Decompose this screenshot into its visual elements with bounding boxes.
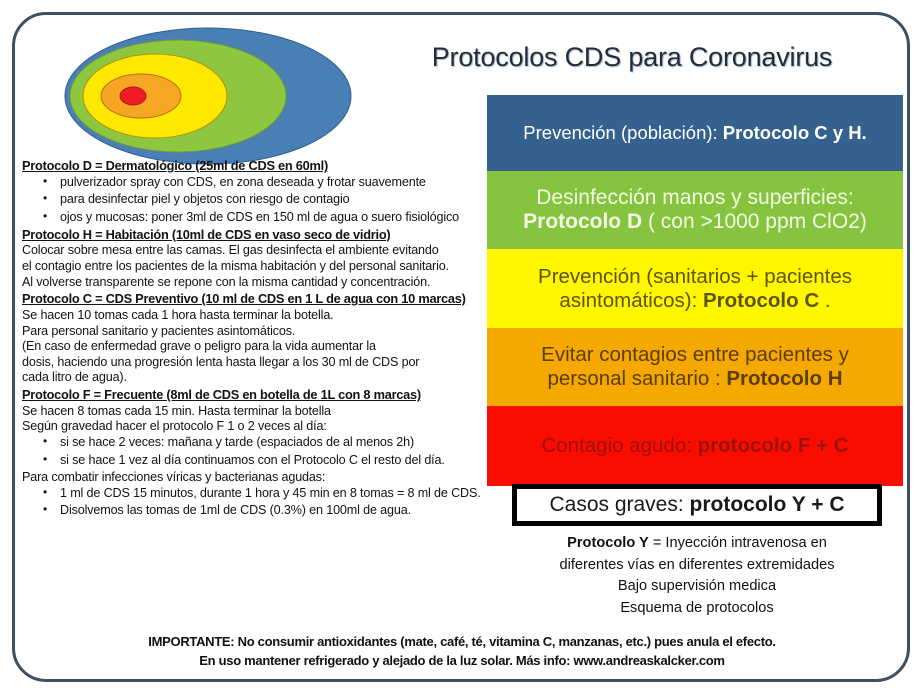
- band-bold-text: Protocolo C y H.: [723, 122, 867, 143]
- band-bold-text: Protocolo D: [523, 210, 642, 233]
- band-bold-text: protocolo F + C: [698, 434, 849, 457]
- casos-graves-callout-box: Casos graves: protocolo Y + C: [512, 484, 882, 526]
- protocolo-y-line-1: Protocolo Y = Inyección intravenosa en: [492, 533, 902, 555]
- protocol-c-heading: Protocolo C = CDS Preventivo (10 ml de C…: [22, 293, 484, 306]
- protocolo-y-label: Protocolo Y: [567, 535, 649, 551]
- band-prevencion-sanitarios: Prevención (sanitarios + pacientes asint…: [487, 249, 903, 328]
- footer-line-2: En uso mantener refrigerado y alejado de…: [22, 652, 902, 671]
- band-evitar-contagios: Evitar contagios entre pacientes y perso…: [487, 328, 903, 406]
- infecciones-agudas-line: Para combatir infecciones víricas y bact…: [22, 471, 484, 484]
- band-prefix-text: Prevención (población):: [523, 122, 723, 143]
- protocol-h-line: Al volverse transparente se repone con l…: [22, 276, 484, 289]
- protocolo-y-line-2: diferentes vías en diferentes extremidad…: [492, 555, 902, 577]
- list-item: si se hace 2 veces: mañana y tarde (espa…: [60, 436, 484, 449]
- page-title: Protocolos CDS para Coronavirus: [362, 42, 902, 73]
- protocol-severity-bands: Prevención (población): Protocolo C y H.…: [487, 95, 903, 486]
- protocol-f-line: Se hacen 8 tomas cada 15 min. Hasta term…: [22, 405, 484, 418]
- band-desinfeccion: Desinfección manos y superficies: Protoc…: [487, 171, 903, 249]
- protocol-f-heading: Protocolo F = Frecuente (8ml de CDS en b…: [22, 389, 484, 402]
- band-bold-text: Protocolo C: [703, 289, 819, 312]
- band-suffix-text: ( con >1000 ppm ClO2): [642, 210, 867, 233]
- protocol-h-heading: Protocolo H = Habitación (10ml de CDS en…: [22, 229, 484, 242]
- red-core-icon: [120, 87, 146, 105]
- protocol-d-heading: Protocolo D = Dermatológico (25ml de CDS…: [22, 160, 484, 173]
- band-bold-text: Protocolo H: [726, 367, 842, 390]
- list-item: 1 ml de CDS 15 minutos, durante 1 hora y…: [60, 487, 484, 500]
- casos-graves-prefix: Casos graves:: [549, 493, 689, 516]
- band-suffix-text: .: [819, 289, 830, 312]
- footer-line-1: IMPORTANTE: No consumir antioxidantes (m…: [22, 633, 902, 652]
- list-item: Disolvemos las tomas de 1ml de CDS (0.3%…: [60, 504, 484, 517]
- protocol-f-bullet-list: si se hace 2 veces: mañana y tarde (espa…: [22, 436, 484, 466]
- protocol-c-line: dosis, haciendo una progresión lenta has…: [22, 356, 484, 369]
- protocol-h-line: el contagio entre los pacientes de la mi…: [22, 260, 484, 273]
- footer-warning: IMPORTANTE: No consumir antioxidantes (m…: [22, 633, 902, 671]
- protocol-c-line: Para personal sanitario y pacientes asin…: [22, 325, 484, 338]
- concentric-severity-ellipses-diagram: [63, 26, 353, 166]
- band-contagio-agudo: Contagio agudo: protocolo F + C: [487, 406, 903, 486]
- list-item: para desinfectar piel y objetos con ries…: [60, 193, 484, 206]
- poster-root: Protocolos CDS para Coronavirus Protocol…: [0, 0, 924, 694]
- protocol-details-column: Protocolo D = Dermatológico (25ml de CDS…: [22, 160, 484, 522]
- protocol-c-line: Se hacen 10 tomas cada 1 hora hasta term…: [22, 309, 484, 322]
- protocol-d-bullet-list: pulverizador spray con CDS, en zona dese…: [22, 176, 484, 224]
- protocol-c-line: (En caso de enfermedad grave o peligro p…: [22, 340, 484, 353]
- infecciones-agudas-bullet-list: 1 ml de CDS 15 minutos, durante 1 hora y…: [22, 487, 484, 517]
- list-item: si se hace 1 vez al día continuamos con …: [60, 454, 484, 467]
- protocolo-y-notes: Protocolo Y = Inyección intravenosa en d…: [492, 533, 902, 619]
- list-item: ojos y mucosas: poner 3ml de CDS en 150 …: [60, 211, 484, 224]
- protocol-c-line: cada litro de agua).: [22, 371, 484, 384]
- list-item: pulverizador spray con CDS, en zona dese…: [60, 176, 484, 189]
- protocolo-y-desc: = Inyección intravenosa en: [649, 535, 827, 551]
- protocol-h-line: Colocar sobre mesa entre las camas. El g…: [22, 244, 484, 257]
- protocolo-y-line-4: Esquema de protocolos: [492, 598, 902, 620]
- band-prefix-text: Desinfección manos y superficies:: [536, 186, 853, 209]
- band-prevencion-poblacion: Prevención (población): Protocolo C y H.: [487, 95, 903, 171]
- protocolo-y-line-3: Bajo supervisión medica: [492, 576, 902, 598]
- band-prefix-text: Contagio agudo:: [541, 434, 697, 457]
- protocol-f-line: Según gravedad hacer el protocolo F 1 o …: [22, 420, 484, 433]
- casos-graves-bold: protocolo Y + C: [690, 493, 845, 516]
